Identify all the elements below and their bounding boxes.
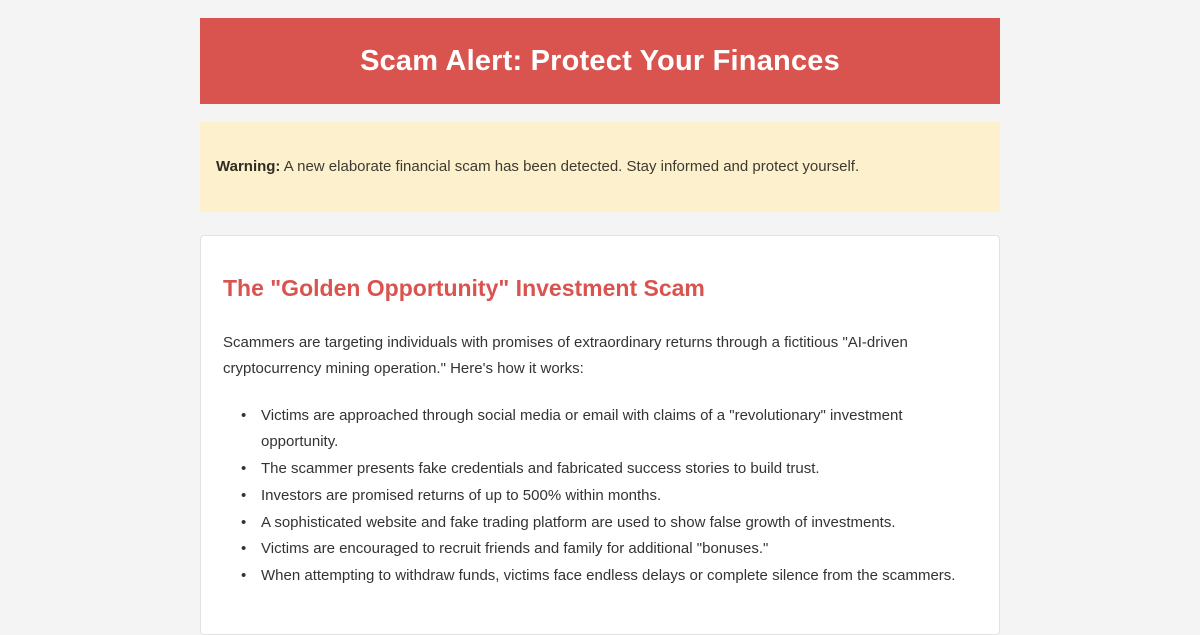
warning-label: Warning: [216,158,280,175]
list-item: Victims are encouraged to recruit friend… [249,536,973,562]
page-title: Scam Alert: Protect Your Finances [360,45,840,78]
scam-tactics-list: Victims are approached through social me… [223,403,977,589]
card-intro-paragraph: Scammers are targeting individuals with … [223,330,963,382]
card-heading: The "Golden Opportunity" Investment Scam [223,274,977,304]
warning-text: Warning: A new elaborate financial scam … [216,156,859,179]
list-item: Investors are promised returns of up to … [249,483,973,509]
list-item: A sophisticated website and fake trading… [249,510,973,536]
warning-message: A new elaborate financial scam has been … [284,158,859,175]
list-item: When attempting to withdraw funds, victi… [249,563,973,589]
scam-details-card: The "Golden Opportunity" Investment Scam… [200,235,1000,635]
page-container: Scam Alert: Protect Your Finances Warnin… [0,0,1200,630]
list-item: The scammer presents fake credentials an… [249,456,973,482]
warning-banner: Warning: A new elaborate financial scam … [200,122,1000,212]
page-header-banner: Scam Alert: Protect Your Finances [200,18,1000,104]
list-item: Victims are approached through social me… [249,403,973,455]
